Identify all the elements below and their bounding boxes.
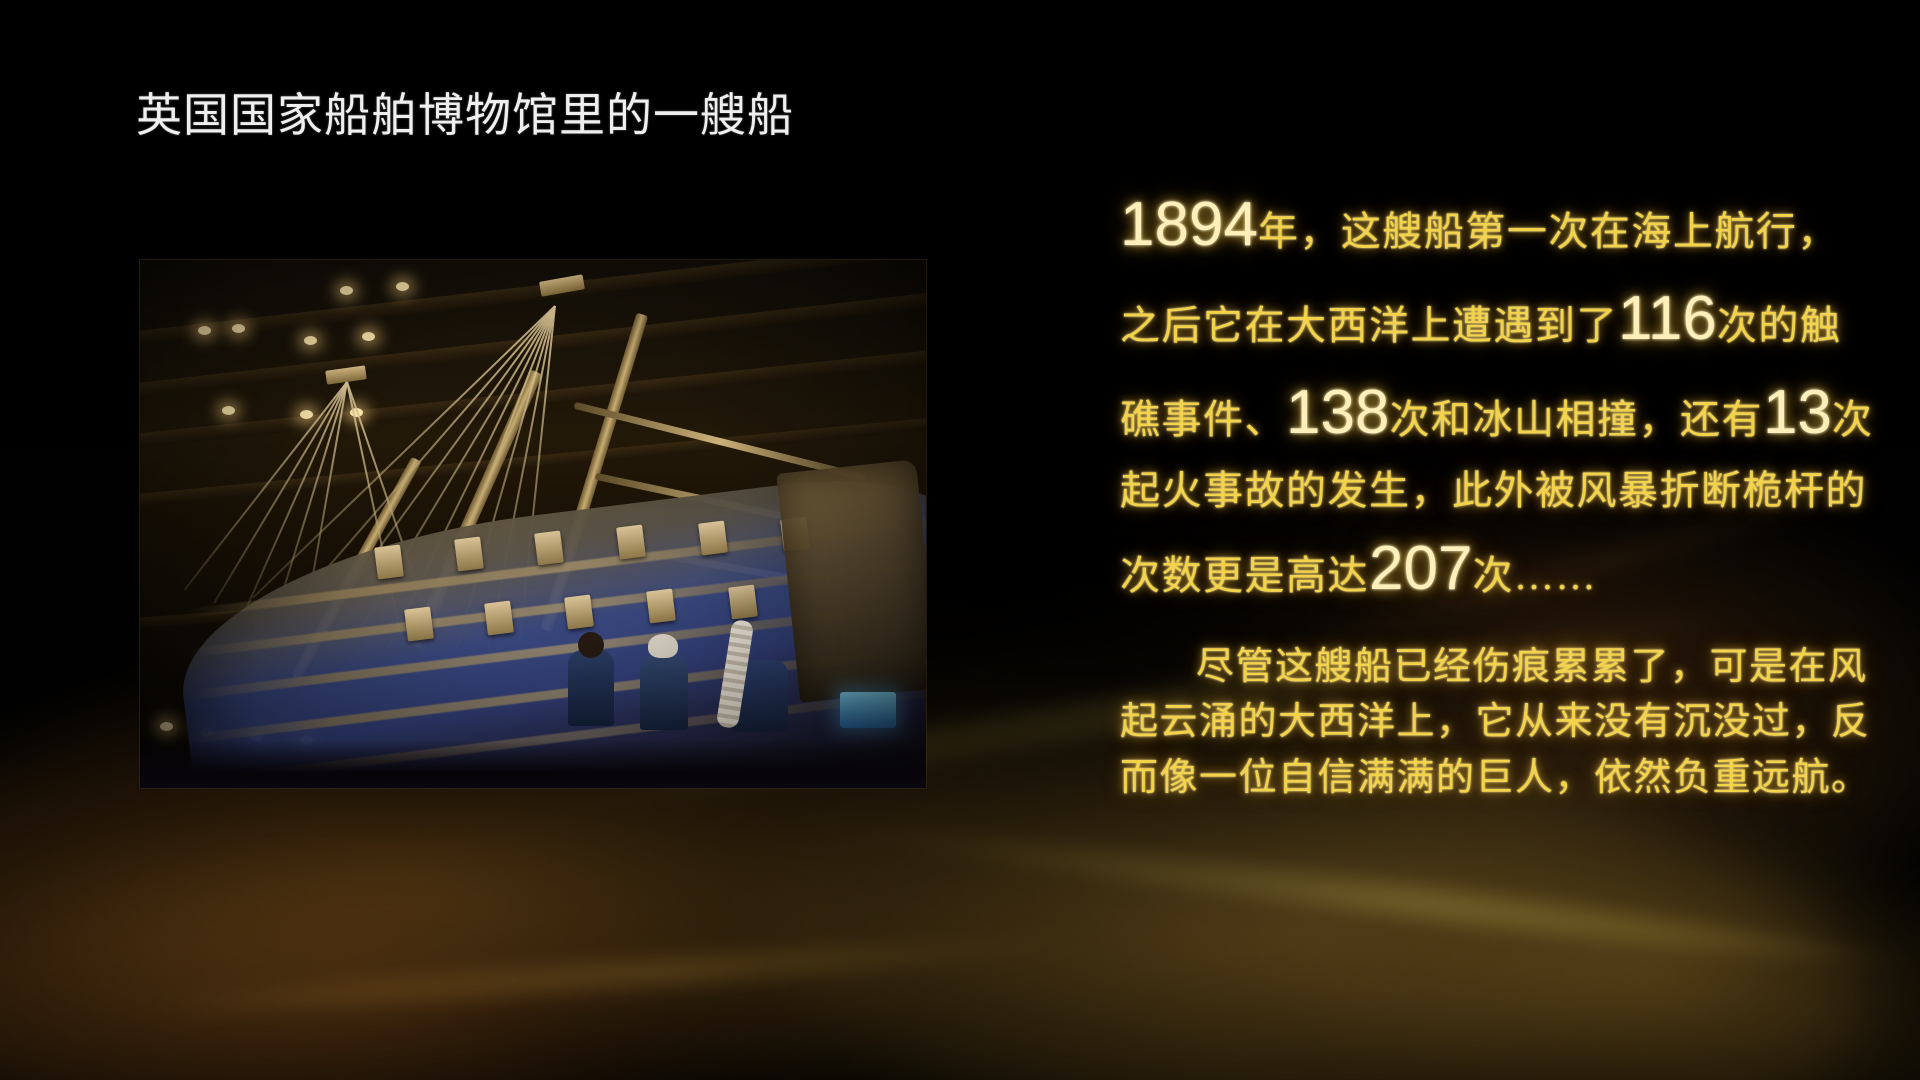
photo-vignette — [140, 260, 926, 788]
paragraph-statistics: 1894年，这艘船第一次在海上航行，之后它在大西洋上遭遇到了116次的触礁事件、… — [1120, 178, 1880, 616]
stat-first-voyage-year: 1894 — [1120, 190, 1258, 259]
ship-photo — [140, 260, 926, 788]
stat-fire-accidents: 13 — [1763, 378, 1832, 447]
text-segment-5: 次…… — [1472, 553, 1597, 598]
presentation-slide: 英国国家船舶博物馆里的一艘船 — [0, 0, 1920, 1080]
slide-title: 英国国家船舶博物馆里的一艘船 — [136, 88, 794, 143]
smoke-ribbon-6 — [1232, 768, 1920, 1080]
paragraph-conclusion: 尽管这艘船已经伤痕累累了，可是在风起云涌的大西洋上，它从来没有沉没过，反而像一位… — [1120, 640, 1880, 806]
flame-streak-3 — [120, 926, 1100, 1024]
text-segment-3: 次和冰山相撞，还有 — [1389, 397, 1763, 442]
smoke-ribbon-5 — [0, 814, 888, 1080]
conclusion-text: 尽管这艘船已经伤痕累累了，可是在风起云涌的大西洋上，它从来没有沉没过，反而像一位… — [1120, 646, 1871, 799]
stat-iceberg-collisions: 138 — [1286, 378, 1389, 447]
body-text-column: 1894年，这艘船第一次在海上航行，之后它在大西洋上遭遇到了116次的触礁事件、… — [1120, 178, 1880, 806]
photo-bottom-fade — [140, 740, 926, 788]
stat-broken-masts: 207 — [1369, 534, 1472, 603]
stat-grounding-incidents: 116 — [1618, 284, 1717, 353]
flame-streak-2 — [822, 813, 1918, 979]
